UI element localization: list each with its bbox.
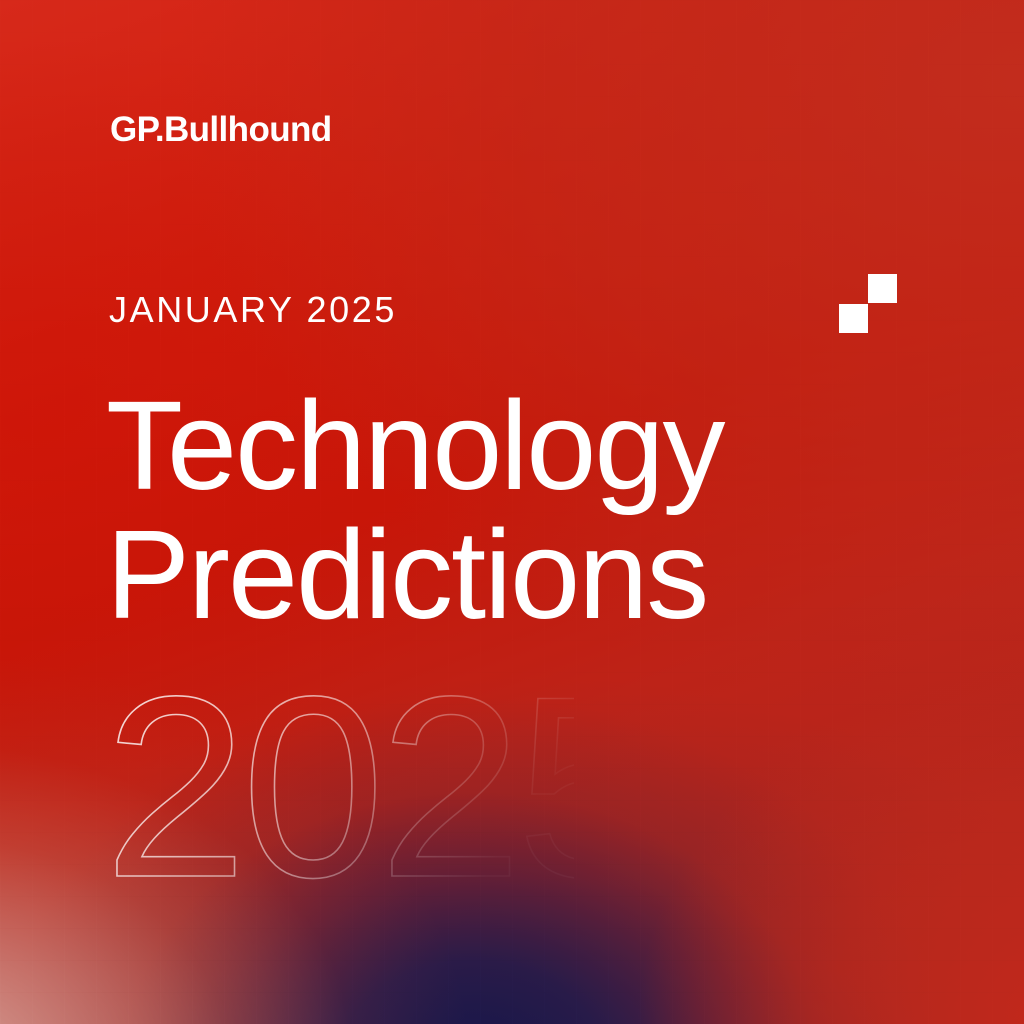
publication-date: JANUARY 2025 bbox=[109, 292, 397, 328]
two-squares-mark bbox=[838, 274, 898, 334]
report-cover: 2025 GP.Bullhound JANUARY 2025 Technolog… bbox=[0, 0, 1024, 1024]
square-lower-icon bbox=[839, 304, 868, 333]
page-title-line-1: Technology bbox=[106, 382, 723, 511]
watermark-year-text: 2025 bbox=[104, 646, 574, 906]
year-watermark: 2025 bbox=[104, 646, 574, 906]
square-upper-icon bbox=[868, 274, 897, 303]
page-title-line-2: Predictions bbox=[106, 511, 723, 640]
page-title: Technology Predictions bbox=[106, 382, 723, 639]
gp-bullhound-logo: GP.Bullhound bbox=[110, 112, 332, 147]
